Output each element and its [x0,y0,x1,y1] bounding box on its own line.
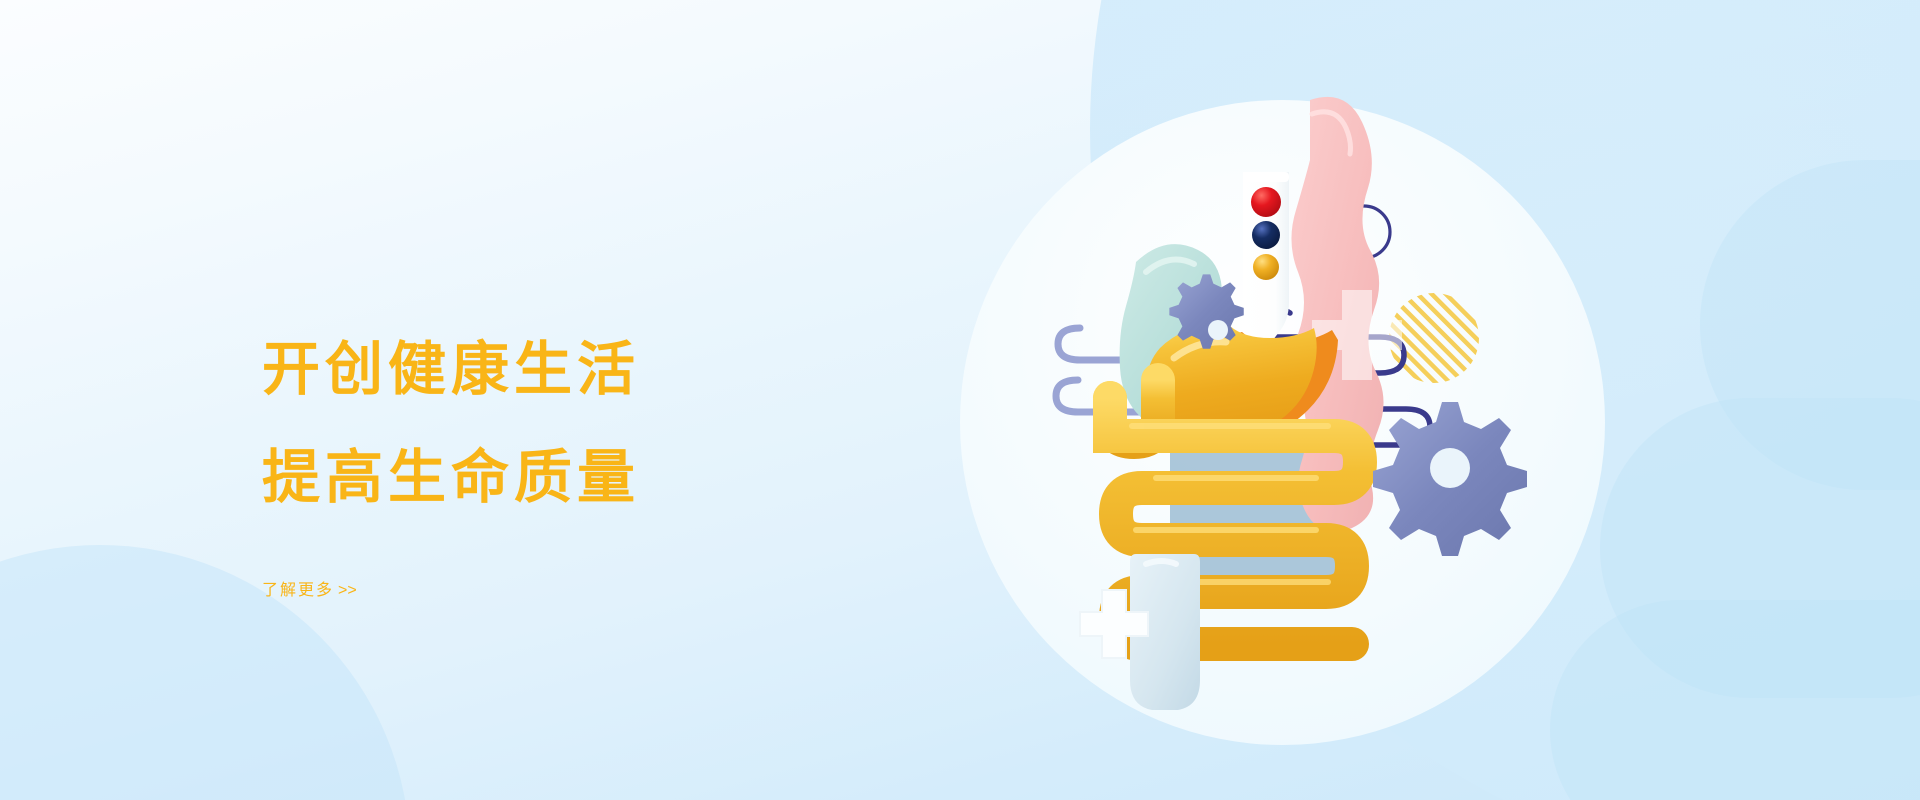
hero-copy-block: 开创健康生活 提高生命质量 了解更多>> [262,316,822,602]
chevron-right-icon: >> [338,582,357,599]
illustration-svg [960,80,1620,740]
test-tube [1243,172,1289,340]
digestive-system-illustration [960,80,1620,740]
gear-large-icon [1373,402,1527,556]
learn-more-label: 了解更多 [262,582,334,599]
headline-line-2: 提高生命质量 [262,424,822,532]
bead-yellow [1253,254,1279,280]
gear-small-icon [1169,274,1243,348]
bead-red [1251,187,1281,217]
hero-banner: 开创健康生活 提高生命质量 了解更多>> [0,0,1920,800]
bead-navy [1252,221,1280,249]
learn-more-link[interactable]: 了解更多>> [262,580,357,602]
headline-line-1: 开创健康生活 [262,316,822,424]
